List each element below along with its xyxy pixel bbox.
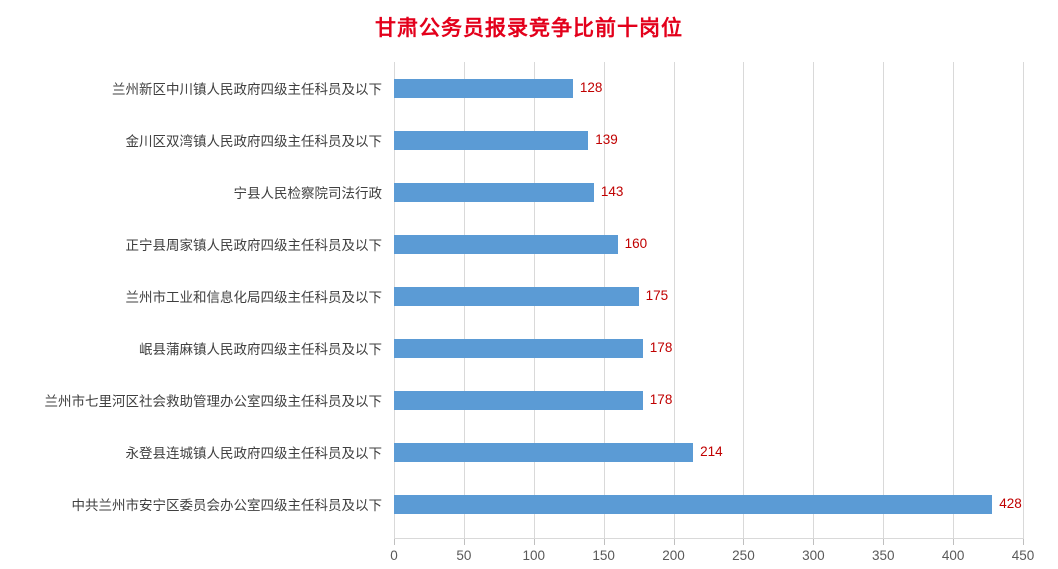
- bar[interactable]: [394, 79, 573, 98]
- bar-row[interactable]: 175: [394, 270, 1023, 322]
- bar-value-label: 160: [625, 237, 648, 251]
- x-tick-mark-200: [674, 539, 675, 545]
- y-axis-label: 中共兰州市安宁区委员会办公室四级主任科员及以下: [72, 478, 383, 530]
- bar-value-label: 214: [700, 445, 723, 459]
- gridline-450: [1023, 62, 1024, 538]
- bar[interactable]: [394, 287, 639, 306]
- x-tick-label: 300: [802, 548, 825, 563]
- y-axis-label: 金川区双湾镇人民政府四级主任科员及以下: [126, 114, 383, 166]
- x-tick-mark-350: [883, 539, 884, 545]
- x-tick-mark-100: [534, 539, 535, 545]
- y-axis-label: 岷县蒲麻镇人民政府四级主任科员及以下: [139, 322, 382, 374]
- plot-area: 128139143160175178178214428: [394, 62, 1023, 538]
- x-axis-ticks: 050100150200250300350400450: [394, 539, 1023, 569]
- x-tick-label: 400: [942, 548, 965, 563]
- x-tick-mark-50: [464, 539, 465, 545]
- x-tick-label: 0: [390, 548, 398, 563]
- bar-value-label: 128: [580, 81, 603, 95]
- x-tick-mark-450: [1023, 539, 1024, 545]
- x-tick-mark-250: [743, 539, 744, 545]
- bar-row[interactable]: 160: [394, 218, 1023, 270]
- bar-value-label: 143: [601, 185, 624, 199]
- y-axis-category-labels: 兰州新区中川镇人民政府四级主任科员及以下金川区双湾镇人民政府四级主任科员及以下宁…: [0, 62, 388, 538]
- y-axis-label: 兰州新区中川镇人民政府四级主任科员及以下: [112, 62, 382, 114]
- bar-value-label: 139: [595, 133, 618, 147]
- bar[interactable]: [394, 443, 693, 462]
- bar-row[interactable]: 428: [394, 478, 1023, 530]
- bar[interactable]: [394, 131, 588, 150]
- y-axis-label: 正宁县周家镇人民政府四级主任科员及以下: [126, 218, 383, 270]
- x-tick-label: 450: [1012, 548, 1035, 563]
- bar-value-label: 428: [999, 497, 1022, 511]
- bar-row[interactable]: 128: [394, 62, 1023, 114]
- y-axis-label: 宁县人民检察院司法行政: [234, 166, 383, 218]
- bar[interactable]: [394, 235, 618, 254]
- x-tick-mark-150: [604, 539, 605, 545]
- bar-row[interactable]: 178: [394, 374, 1023, 426]
- bar-row[interactable]: 214: [394, 426, 1023, 478]
- x-tick-mark-300: [813, 539, 814, 545]
- bar-row[interactable]: 139: [394, 114, 1023, 166]
- x-tick-mark-400: [953, 539, 954, 545]
- x-tick-label: 100: [523, 548, 546, 563]
- x-tick-label: 350: [872, 548, 895, 563]
- bar[interactable]: [394, 391, 643, 410]
- bar-value-label: 175: [646, 289, 669, 303]
- y-axis-label: 兰州市七里河区社会救助管理办公室四级主任科员及以下: [45, 374, 383, 426]
- bar-row[interactable]: 178: [394, 322, 1023, 374]
- x-tick-label: 200: [662, 548, 685, 563]
- bar-value-label: 178: [650, 393, 673, 407]
- bar[interactable]: [394, 339, 643, 358]
- y-axis-label: 兰州市工业和信息化局四级主任科员及以下: [126, 270, 383, 322]
- bar-chart: 甘肃公务员报录竞争比前十岗位 兰州新区中川镇人民政府四级主任科员及以下金川区双湾…: [0, 0, 1058, 569]
- x-tick-label: 250: [732, 548, 755, 563]
- x-tick-mark-0: [394, 539, 395, 545]
- bar-value-label: 178: [650, 341, 673, 355]
- x-tick-label: 50: [456, 548, 471, 563]
- y-axis-label: 永登县连城镇人民政府四级主任科员及以下: [126, 426, 383, 478]
- bar[interactable]: [394, 183, 594, 202]
- bar[interactable]: [394, 495, 992, 514]
- x-tick-label: 150: [592, 548, 615, 563]
- chart-title: 甘肃公务员报录竞争比前十岗位: [0, 12, 1058, 42]
- bar-row[interactable]: 143: [394, 166, 1023, 218]
